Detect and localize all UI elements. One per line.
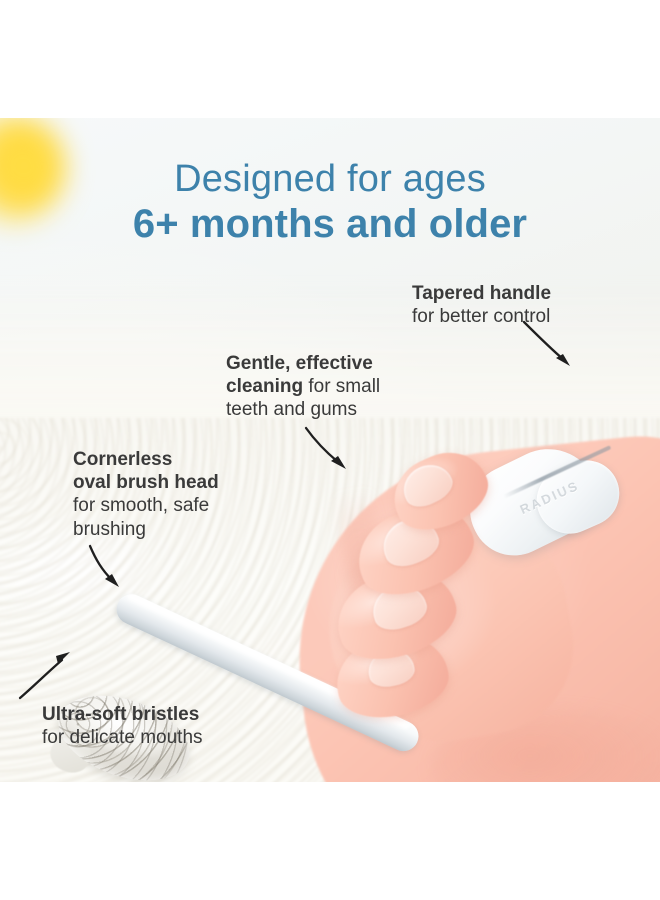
letterbox-bottom [0, 782, 660, 900]
callout-cornerless-head-bold: Cornerless [73, 448, 243, 471]
callout-tapered-handle-bold: Tapered handle [412, 282, 551, 305]
callout-cornerless-head-regular: for smooth, safe [73, 494, 243, 517]
callout-cornerless-head-bold2: oval brush head [73, 471, 243, 494]
callout-cornerless-head-regular2: brushing [73, 518, 243, 541]
letterbox-top [0, 0, 660, 118]
callout-gentle-cleaning-line-1: Gentle, effective [226, 352, 416, 375]
callout-gentle-cleaning-line-2: cleaning for small [226, 375, 416, 398]
callout-gentle-cleaning-bold: Gentle, effective [226, 353, 373, 374]
arrow-to-bristles-icon [12, 642, 92, 712]
arrow-to-brush-head-icon [86, 542, 156, 612]
callout-gentle-cleaning: Gentle, effective cleaning for small tee… [226, 352, 416, 422]
blurred-yellow-toy [0, 118, 66, 224]
callout-gentle-cleaning-bold2: cleaning [226, 376, 303, 397]
callout-ultra-soft-bristles-regular: for delicate mouths [42, 726, 203, 749]
arrow-to-brush-neck-icon [300, 418, 380, 488]
callout-gentle-cleaning-regular: for small [303, 376, 380, 397]
arrow-to-handle-icon [520, 318, 600, 388]
infographic-stage: RADIUS Designed for ages 6+ months and o… [0, 0, 660, 900]
callout-cornerless-head: Cornerless oval brush head for smooth, s… [73, 448, 243, 541]
